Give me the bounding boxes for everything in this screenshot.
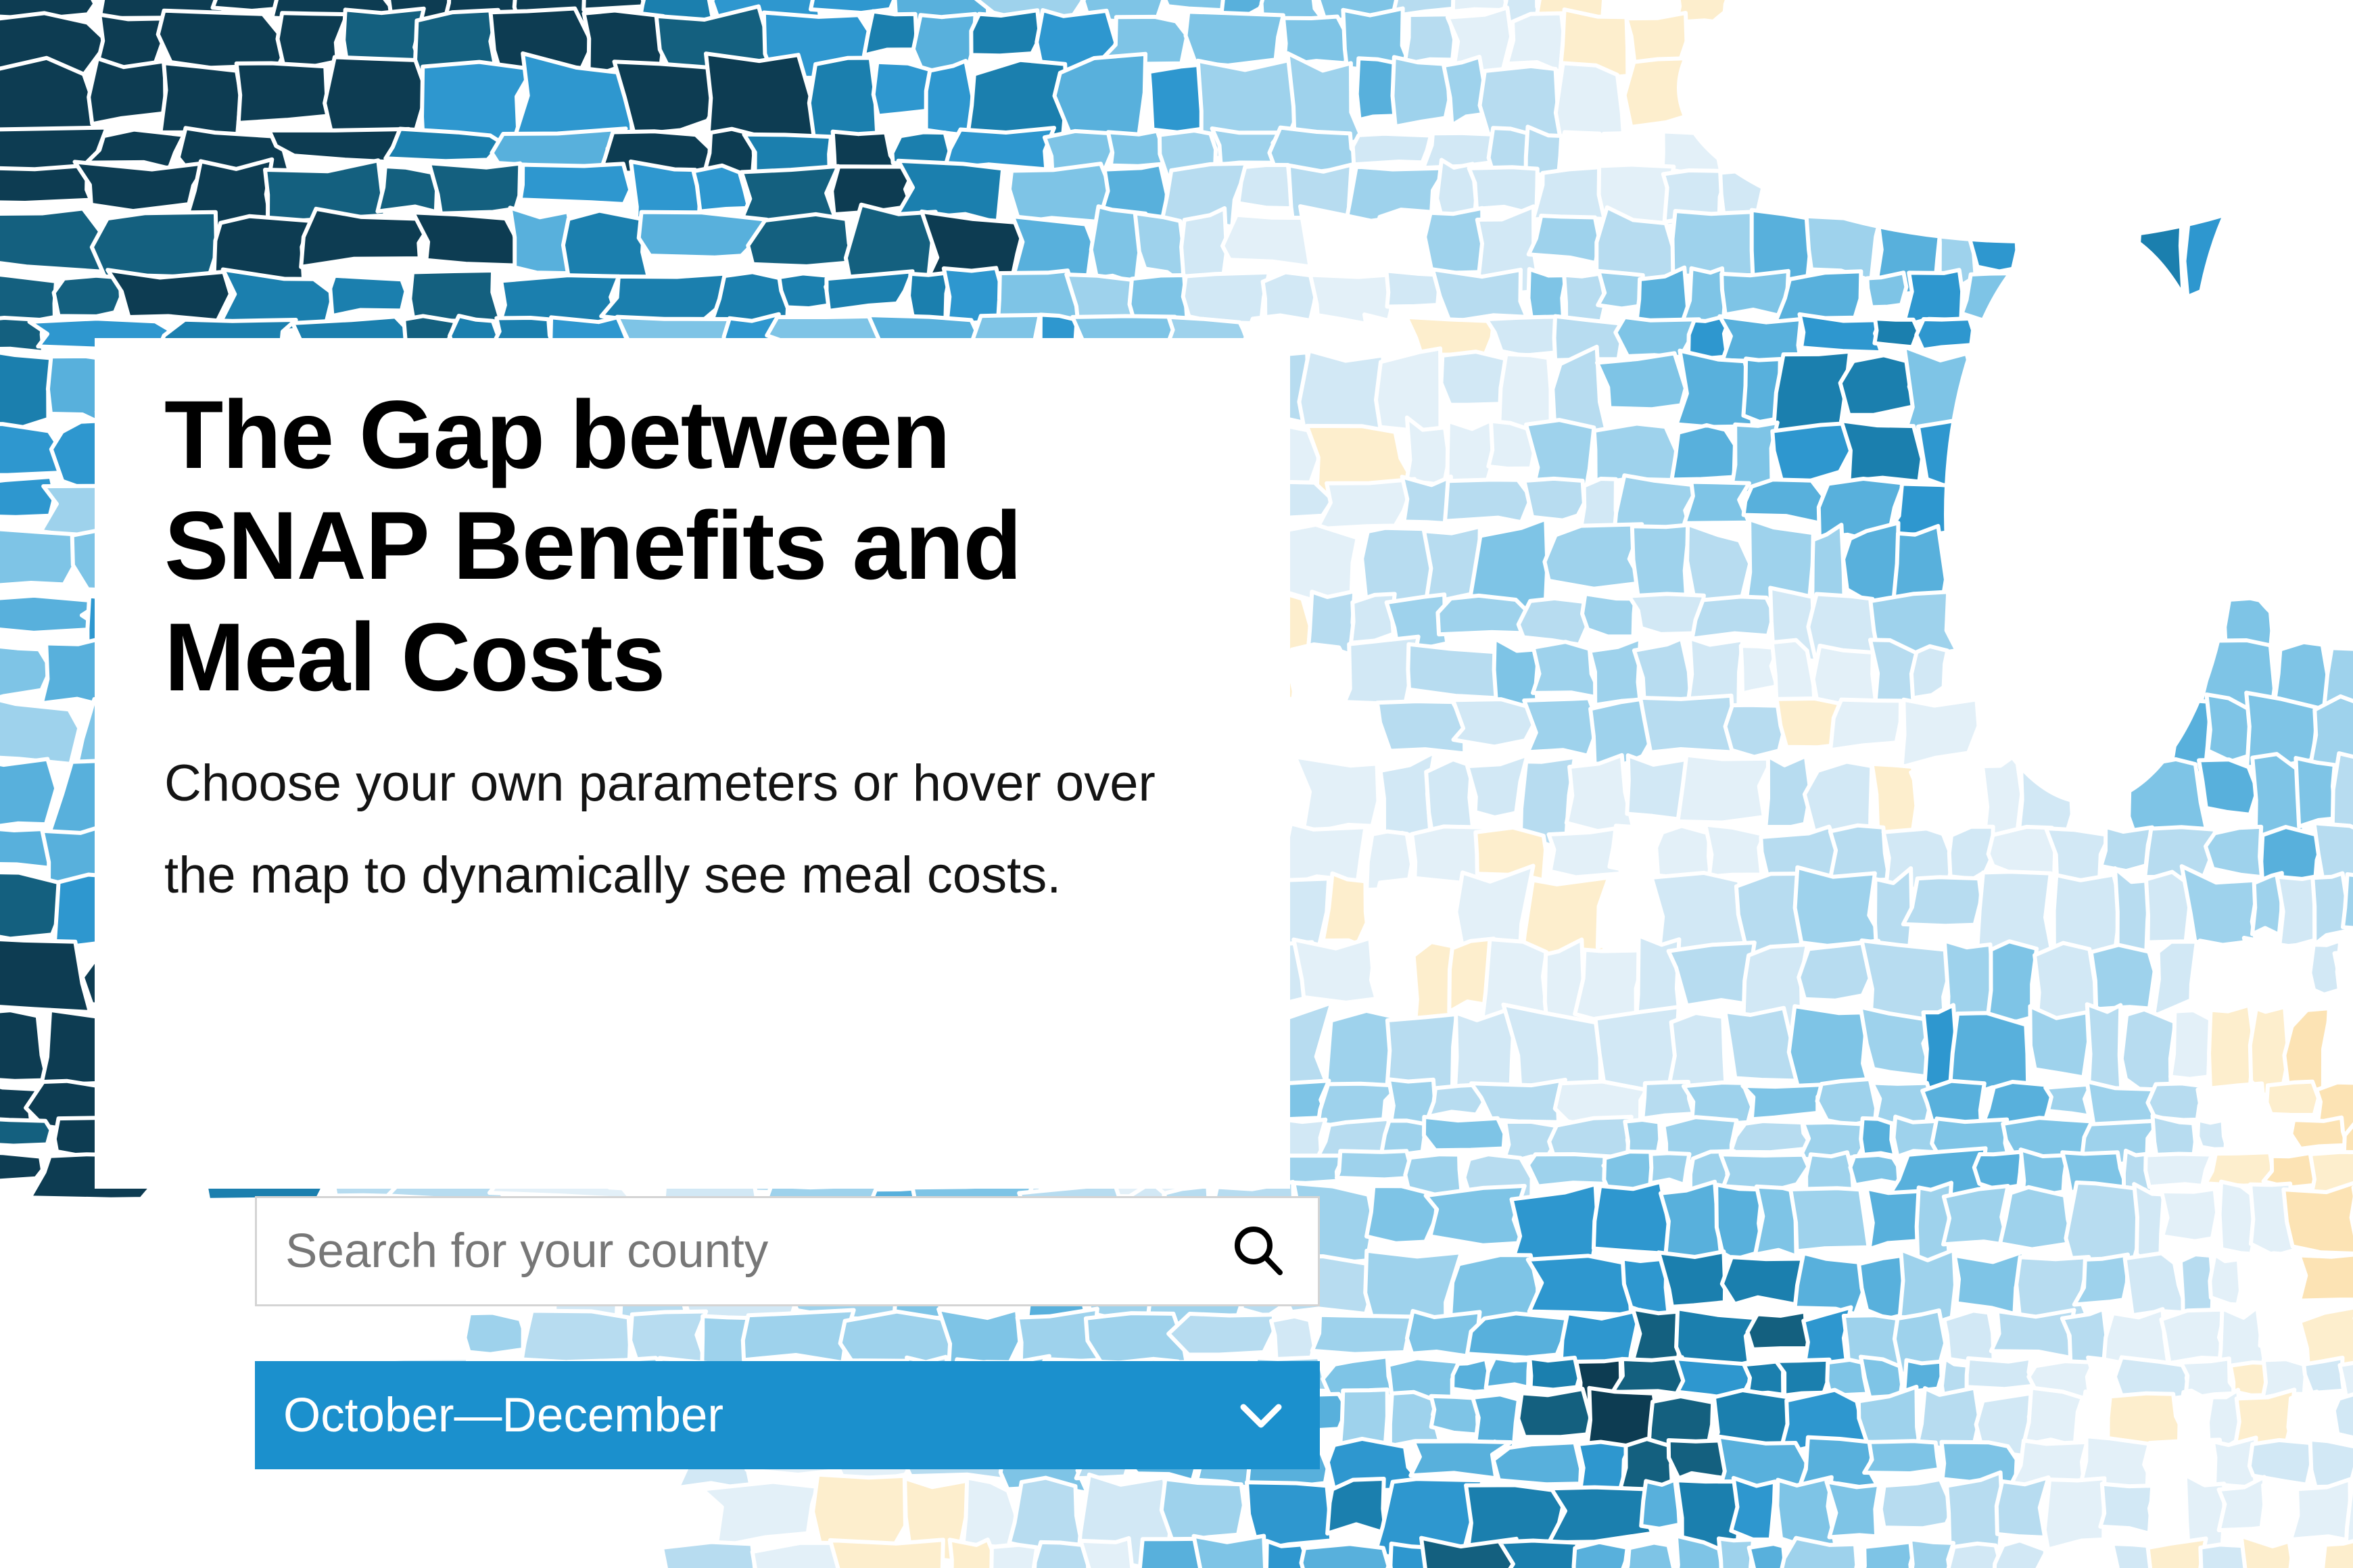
snap-meal-cost-map-page: The Gap between SNAP Benefits and Meal C… [0,0,2353,1568]
county-polygon[interactable] [1916,318,1973,350]
county-polygon[interactable] [1194,1536,1266,1568]
county-polygon[interactable] [2291,1118,2347,1149]
county-polygon[interactable] [2304,1358,2344,1394]
county-polygon[interactable] [1467,755,1527,817]
county-polygon[interactable] [2299,1253,2353,1300]
county-polygon[interactable] [1671,425,1735,480]
county-polygon[interactable] [584,0,644,10]
county-polygon[interactable] [1967,1358,2034,1389]
county-polygon[interactable] [1874,318,1918,347]
county-polygon[interactable] [662,1542,755,1568]
county-polygon[interactable] [1590,638,1640,705]
lake-michigan [1944,223,2235,805]
county-polygon[interactable] [830,1540,947,1568]
county-polygon[interactable] [1622,1543,1677,1568]
county-polygon[interactable] [1598,271,1643,309]
county-polygon[interactable] [1186,11,1283,66]
county-polygon[interactable] [1108,131,1165,166]
county-polygon[interactable] [1830,700,1901,751]
county-polygon[interactable] [1486,1358,1529,1388]
county-polygon[interactable] [1168,1314,1274,1355]
county-polygon[interactable] [1524,698,1598,756]
county-polygon[interactable] [2291,1479,2353,1542]
county-polygon[interactable] [521,164,631,204]
county-polygon[interactable] [1222,215,1312,267]
county-polygon[interactable] [1337,1151,1414,1179]
county-polygon[interactable] [330,276,406,316]
county-polygon[interactable] [1997,1477,2049,1538]
county-polygon[interactable] [1437,596,1529,634]
county-polygon[interactable] [1594,424,1682,483]
county-polygon[interactable] [1840,355,1915,415]
county-polygon[interactable] [1800,314,1882,352]
county-polygon[interactable] [1452,1359,1489,1392]
county-polygon[interactable] [385,129,502,162]
county-polygon[interactable] [2170,1010,2212,1079]
county-polygon[interactable] [1567,755,1634,832]
county-polygon[interactable] [1678,755,1772,823]
county-polygon[interactable] [1731,1478,1775,1540]
county-polygon[interactable] [1684,482,1749,523]
county-polygon[interactable] [2225,1119,2293,1152]
county-polygon[interactable] [1406,418,1449,485]
county-polygon[interactable] [1917,1387,1979,1448]
county-polygon[interactable] [926,61,973,136]
county-polygon[interactable] [1721,1154,1809,1190]
county-polygon[interactable] [2296,758,2335,826]
county-polygon[interactable] [1312,1315,1413,1354]
county-polygon[interactable] [2244,938,2319,1012]
county-polygon[interactable] [1943,1186,2008,1245]
county-polygon[interactable] [1692,596,1774,638]
county-polygon[interactable] [1748,1312,1810,1350]
county-polygon[interactable] [158,11,288,68]
county-polygon[interactable] [1595,133,1671,167]
county-polygon[interactable] [2289,1544,2323,1568]
page-subtitle: Choose your own parameters or hover over… [164,713,1219,921]
county-polygon[interactable] [2000,1187,2074,1250]
county-polygon[interactable] [1861,1118,1895,1156]
search-input[interactable] [285,1198,1222,1304]
county-polygon[interactable] [2145,1154,2212,1187]
county-polygon[interactable] [1765,756,1811,827]
county-polygon[interactable] [1721,271,1788,316]
county-polygon[interactable] [1909,1539,1953,1568]
county-polygon[interactable] [1181,208,1227,281]
county-polygon[interactable] [1289,644,1353,693]
county-polygon[interactable] [1445,479,1531,522]
page-title: The Gap between SNAP Benefits and Meal C… [164,338,1158,713]
county-polygon[interactable] [2162,1189,2217,1241]
county-polygon[interactable] [938,1309,1020,1367]
county-polygon[interactable] [1302,1544,1389,1568]
county-polygon[interactable] [1989,827,2055,876]
county-polygon[interactable] [1524,479,1584,521]
county-polygon[interactable] [1731,1121,1814,1152]
county-polygon[interactable] [1544,524,1642,589]
county-polygon[interactable] [1080,1538,1133,1568]
county-polygon[interactable] [1974,1152,2022,1189]
county-polygon[interactable] [1377,701,1465,753]
period-select-label: October—December [283,1392,723,1440]
county-polygon[interactable] [1790,1188,1869,1251]
county-polygon[interactable] [2091,945,2155,1009]
county-polygon[interactable] [1404,14,1454,64]
county-polygon[interactable] [1859,1541,1917,1568]
county-polygon[interactable] [1597,353,1686,409]
county-polygon[interactable] [1293,938,1382,1003]
card-content: The Gap between SNAP Benefits and Meal C… [164,338,1225,921]
county-polygon[interactable] [991,1545,1037,1568]
county-polygon[interactable] [1641,1479,1680,1529]
search-button[interactable] [1222,1215,1295,1288]
county-polygon[interactable] [0,759,56,829]
county-polygon[interactable] [237,64,331,123]
county-polygon[interactable] [1719,1538,1753,1568]
county-polygon[interactable] [1744,479,1824,523]
county-polygon[interactable] [0,477,55,517]
county-search-box[interactable] [255,1196,1320,1306]
county-polygon[interactable] [1423,133,1495,168]
county-polygon[interactable] [0,1118,51,1146]
county-polygon[interactable] [864,11,916,55]
county-polygon[interactable] [89,58,166,124]
county-polygon[interactable] [1162,1479,1244,1542]
county-polygon[interactable] [1903,877,1982,926]
county-polygon[interactable] [1795,868,1884,946]
county-polygon[interactable] [1467,1313,1572,1357]
county-polygon[interactable] [1944,1310,1993,1362]
county-polygon[interactable] [2030,1006,2089,1077]
county-polygon[interactable] [1519,598,1590,645]
county-polygon[interactable] [0,1153,43,1181]
county-polygon[interactable] [1518,1389,1590,1437]
county-polygon[interactable] [2266,1082,2319,1115]
county-polygon[interactable] [1408,644,1499,698]
county-polygon[interactable] [1529,216,1600,263]
county-polygon[interactable] [1582,594,1635,636]
county-polygon[interactable] [1426,1186,1525,1245]
county-polygon[interactable] [1327,1479,1385,1534]
county-polygon[interactable] [2206,827,2262,878]
county-polygon[interactable] [748,214,857,266]
county-polygon[interactable] [1722,1257,1805,1305]
county-polygon[interactable] [75,162,208,211]
county-polygon[interactable] [1353,134,1431,165]
county-polygon[interactable] [2283,1182,2353,1254]
county-polygon[interactable] [874,62,933,116]
county-polygon[interactable] [2045,1084,2091,1116]
search-icon [1229,1222,1288,1281]
county-polygon[interactable] [1609,826,1658,872]
county-polygon[interactable] [1393,57,1450,126]
county-polygon[interactable] [1650,1153,1690,1185]
county-polygon[interactable] [2161,1310,2227,1363]
county-polygon[interactable] [213,0,279,11]
county-polygon[interactable] [1911,646,1947,698]
county-polygon[interactable] [971,10,1040,55]
county-polygon[interactable] [1861,1357,1902,1398]
county-polygon[interactable] [0,166,91,204]
county-polygon[interactable] [1317,479,1415,529]
county-polygon[interactable] [1453,699,1536,746]
county-polygon[interactable] [1433,269,1527,322]
county-polygon[interactable] [1676,351,1753,427]
county-polygon[interactable] [743,1310,854,1363]
county-polygon[interactable] [1864,1441,1939,1473]
county-polygon[interactable] [1604,0,1683,4]
period-select[interactable]: October—December [255,1361,1320,1469]
county-polygon[interactable] [1500,1541,1577,1568]
county-polygon[interactable] [1529,1358,1579,1389]
county-polygon[interactable] [1528,1256,1632,1314]
county-polygon[interactable] [413,212,523,266]
county-polygon[interactable] [0,348,54,435]
county-polygon[interactable] [1955,1252,2024,1314]
county-polygon[interactable] [410,270,501,321]
county-polygon[interactable] [1238,165,1293,208]
county-polygon[interactable] [1795,1253,1865,1314]
county-polygon[interactable] [1850,1155,1899,1185]
county-polygon[interactable] [1826,1481,1879,1537]
county-polygon[interactable] [1386,270,1439,306]
county-polygon[interactable] [1868,272,1907,307]
county-polygon[interactable] [2237,1254,2308,1321]
county-polygon[interactable] [950,1540,997,1568]
county-polygon[interactable] [108,270,231,320]
county-polygon[interactable] [2199,759,2258,815]
county-polygon[interactable] [2122,1009,2175,1093]
county-polygon[interactable] [1881,1479,1953,1529]
county-polygon[interactable] [1613,1357,1686,1394]
intro-card: The Gap between SNAP Benefits and Meal C… [95,338,1290,1189]
county-polygon[interactable] [2024,1387,2083,1446]
county-polygon[interactable] [377,166,437,212]
county-polygon[interactable] [0,208,103,271]
county-polygon[interactable] [2277,877,2315,947]
county-polygon[interactable] [1640,696,1734,753]
county-polygon[interactable] [0,937,90,1012]
chevron-down-icon[interactable] [1231,1385,1291,1446]
county-polygon[interactable] [1776,1360,1830,1396]
county-polygon[interactable] [1371,944,1417,1013]
county-polygon[interactable] [1598,873,1659,947]
county-polygon[interactable] [1285,824,1366,886]
county-polygon[interactable] [1574,1542,1627,1568]
county-polygon[interactable] [429,163,521,214]
county-polygon[interactable] [1055,54,1146,143]
county-polygon[interactable] [160,63,241,135]
county-polygon[interactable] [54,276,121,316]
county-polygon[interactable] [1549,1488,1653,1543]
county-polygon[interactable] [1507,14,1564,72]
county-polygon[interactable] [1494,1442,1581,1484]
county-polygon[interactable] [2197,1120,2227,1149]
county-polygon[interactable] [2145,827,2215,878]
county-polygon[interactable] [1841,421,1922,481]
county-polygon[interactable] [2200,1544,2247,1568]
county-polygon[interactable] [1183,272,1270,323]
county-polygon[interactable] [465,1313,523,1354]
county-polygon[interactable] [1424,1117,1504,1150]
county-polygon[interactable] [1705,825,1764,877]
county-polygon[interactable] [0,872,63,939]
county-polygon[interactable] [1295,757,1378,834]
